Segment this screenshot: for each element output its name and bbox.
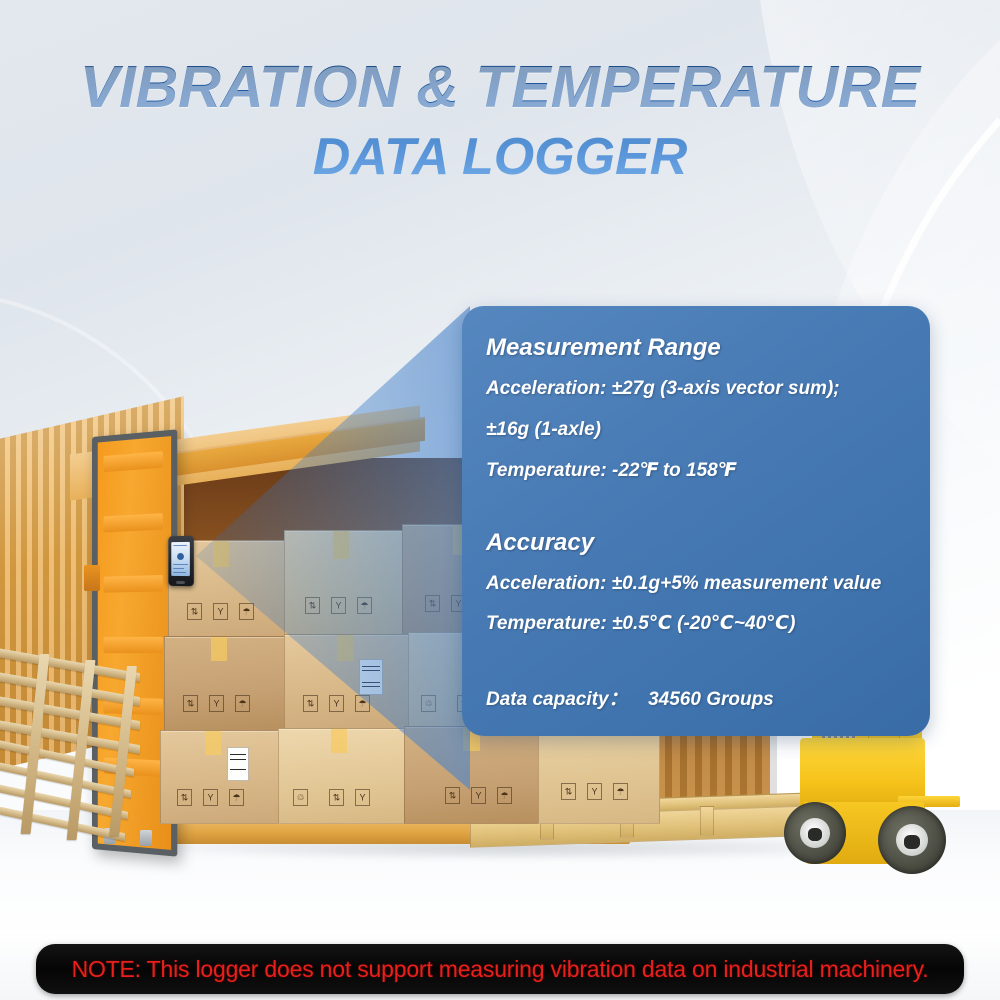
vibration-temperature-data-logger [168, 536, 193, 586]
box: ⇅ Y ☂ [284, 634, 410, 732]
pallet-block [700, 806, 714, 836]
container-door-hinge [84, 565, 100, 591]
box: ⇅ Y ☂ [160, 730, 280, 824]
measurement-acceleration-line-1: Acceleration: ±27g (3-axis vector sum); [486, 378, 904, 400]
device-button [176, 581, 185, 584]
note-text: NOTE: This logger does not support measu… [72, 956, 929, 983]
data-capacity-row: Data capacity： 34560 Groups [486, 684, 904, 711]
box: ♲ ⇅ Y [278, 728, 406, 824]
note-banner: NOTE: This logger does not support measu… [36, 944, 964, 994]
forklift [770, 710, 970, 915]
measurement-temperature-line: Temperature: -22℉ to 158℉ [486, 460, 904, 482]
wooden-pallets [0, 650, 180, 840]
data-capacity-value: 34560 Groups [648, 689, 774, 710]
box: ⇅ Y ☂ [404, 726, 540, 824]
forklift-hub-rear [800, 818, 830, 848]
box: ⇅ Y ☂ [164, 636, 286, 732]
shipping-label [227, 747, 249, 781]
data-capacity-label: Data capacity： [486, 689, 628, 710]
device-screen [171, 542, 190, 576]
title-line-1: VIBRATION & TEMPERATURE [0, 56, 1000, 120]
measurement-acceleration-line-2: ±16g (1-axle) [486, 419, 904, 441]
page-title: VIBRATION & TEMPERATURE DATA LOGGER [0, 56, 1000, 188]
section-heading-accuracy: Accuracy [486, 529, 904, 557]
title-line-2: DATA LOGGER [0, 126, 1000, 188]
shipping-label [359, 659, 383, 695]
section-heading-measurement-range: Measurement Range [486, 334, 904, 362]
box: ⇅ Y ☂ [284, 530, 404, 636]
poster-canvas: VIBRATION & TEMPERATURE DATA LOGGER [0, 0, 1000, 1000]
accuracy-acceleration-line: Acceleration: ±0.1g+5% measurement value [486, 573, 904, 595]
specifications-panel: Measurement Range Acceleration: ±27g (3-… [462, 306, 930, 736]
accuracy-temperature-line: Temperature: ±0.5℃ (-20℃~40℃) [486, 613, 904, 635]
forklift-hub-front [896, 824, 928, 856]
